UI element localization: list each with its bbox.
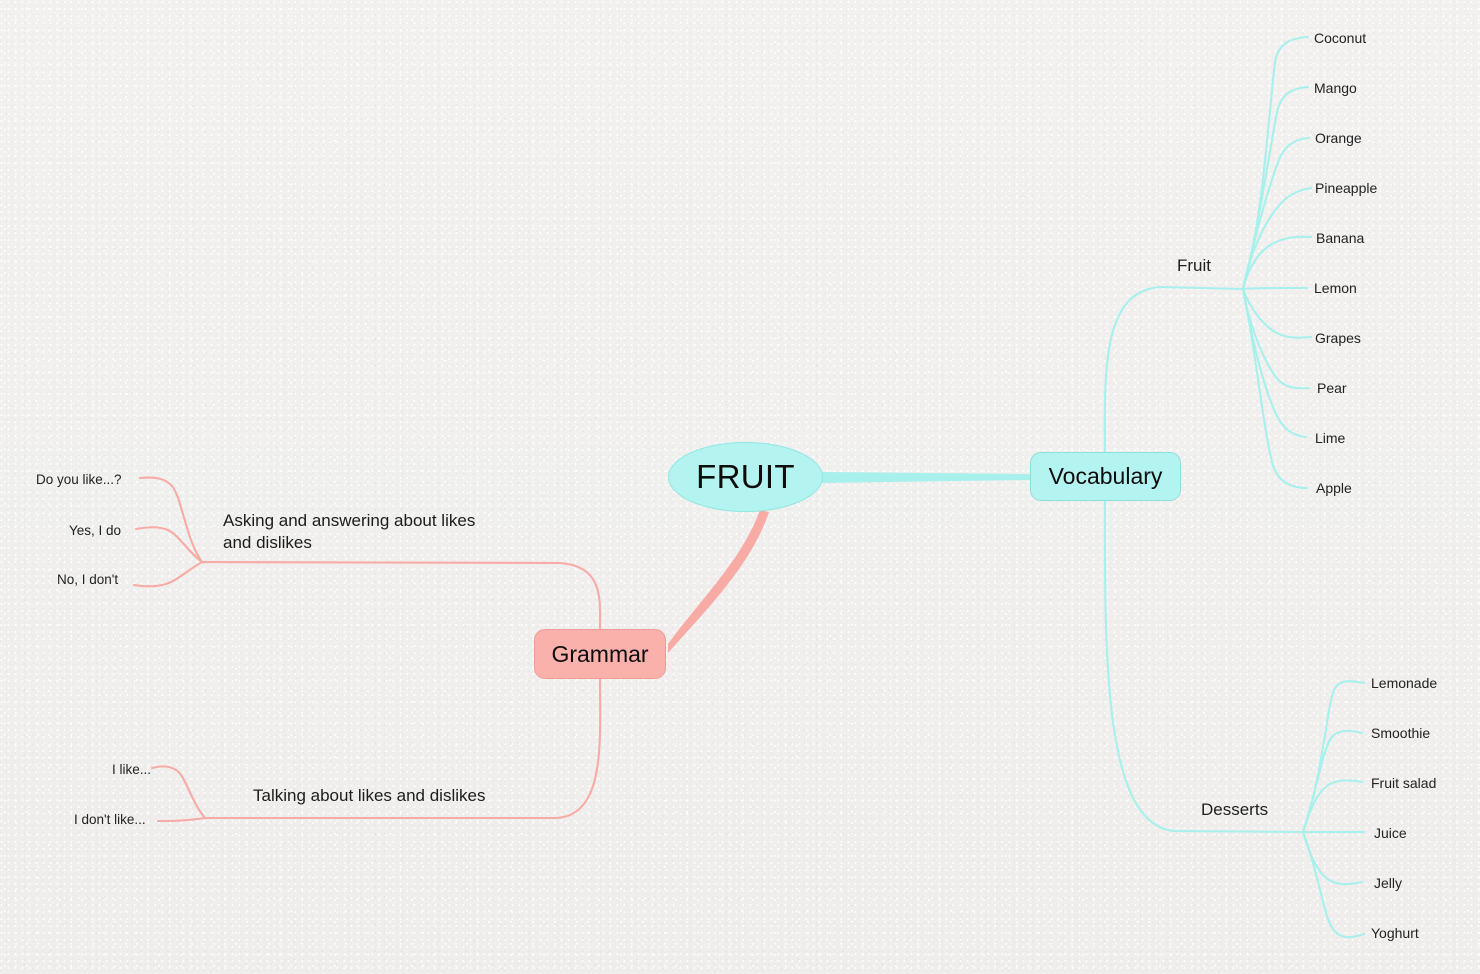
- leaf-label-yoghurt[interactable]: Yoghurt: [1371, 925, 1419, 941]
- mind-map-canvas: FRUIT Vocabulary Grammar Fruit Desserts …: [0, 0, 1480, 974]
- root-node[interactable]: FRUIT: [668, 442, 823, 512]
- branch-node-grammar-label: Grammar: [551, 641, 648, 668]
- leaf-label-apple[interactable]: Apple: [1316, 480, 1352, 496]
- leaf-label-do-you-like[interactable]: Do you like...?: [36, 472, 122, 487]
- leaf-label-fruit-salad[interactable]: Fruit salad: [1371, 775, 1436, 791]
- link-vocabulary-to-desserts: [1105, 478, 1303, 832]
- leaf-label-pear[interactable]: Pear: [1317, 380, 1347, 396]
- leaf-label-i-like[interactable]: I like...: [112, 762, 151, 777]
- leaf-label-i-dont-like[interactable]: I don't like...: [74, 812, 146, 827]
- root-node-label: FRUIT: [696, 458, 795, 496]
- link-root-to-grammar: [668, 510, 769, 653]
- link-grammar-to-asking: [202, 562, 600, 629]
- leaf-label-coconut[interactable]: Coconut: [1314, 30, 1366, 46]
- leaf-label-juice[interactable]: Juice: [1374, 825, 1407, 841]
- desserts-leaf-branches: [1303, 681, 1364, 937]
- talking-leaf-branches: [152, 766, 205, 821]
- fruit-leaf-branches: [1243, 37, 1311, 488]
- leaf-label-pineapple[interactable]: Pineapple: [1315, 180, 1377, 196]
- branch-node-vocabulary[interactable]: Vocabulary: [1030, 452, 1181, 501]
- leaf-label-lime[interactable]: Lime: [1315, 430, 1345, 446]
- asking-leaf-branches: [134, 478, 202, 587]
- subtopic-label-asking-answering[interactable]: Asking and answering about likes and dis…: [223, 510, 513, 554]
- subtopic-asking-line-1: Asking and answering about likes: [223, 511, 475, 530]
- link-vocabulary-to-fruit: [1105, 287, 1243, 478]
- leaf-label-smoothie[interactable]: Smoothie: [1371, 725, 1430, 741]
- leaf-label-orange[interactable]: Orange: [1315, 130, 1362, 146]
- leaf-label-no-i-dont[interactable]: No, I don't: [57, 572, 118, 587]
- leaf-label-jelly[interactable]: Jelly: [1374, 875, 1402, 891]
- branch-node-grammar[interactable]: Grammar: [534, 629, 666, 679]
- leaf-label-banana[interactable]: Banana: [1316, 230, 1364, 246]
- leaf-label-lemon[interactable]: Lemon: [1314, 280, 1357, 296]
- subtopic-label-fruit[interactable]: Fruit: [1177, 256, 1211, 276]
- leaf-label-grapes[interactable]: Grapes: [1315, 330, 1361, 346]
- subtopic-label-talking[interactable]: Talking about likes and dislikes: [253, 785, 485, 807]
- subtopic-asking-line-2: and dislikes: [223, 533, 312, 552]
- branch-node-vocabulary-label: Vocabulary: [1049, 463, 1163, 490]
- leaf-label-lemonade[interactable]: Lemonade: [1371, 675, 1437, 691]
- link-root-to-vocabulary: [820, 472, 1030, 483]
- subtopic-label-desserts[interactable]: Desserts: [1201, 800, 1268, 820]
- leaf-label-yes-i-do[interactable]: Yes, I do: [69, 523, 121, 538]
- leaf-label-mango[interactable]: Mango: [1314, 80, 1357, 96]
